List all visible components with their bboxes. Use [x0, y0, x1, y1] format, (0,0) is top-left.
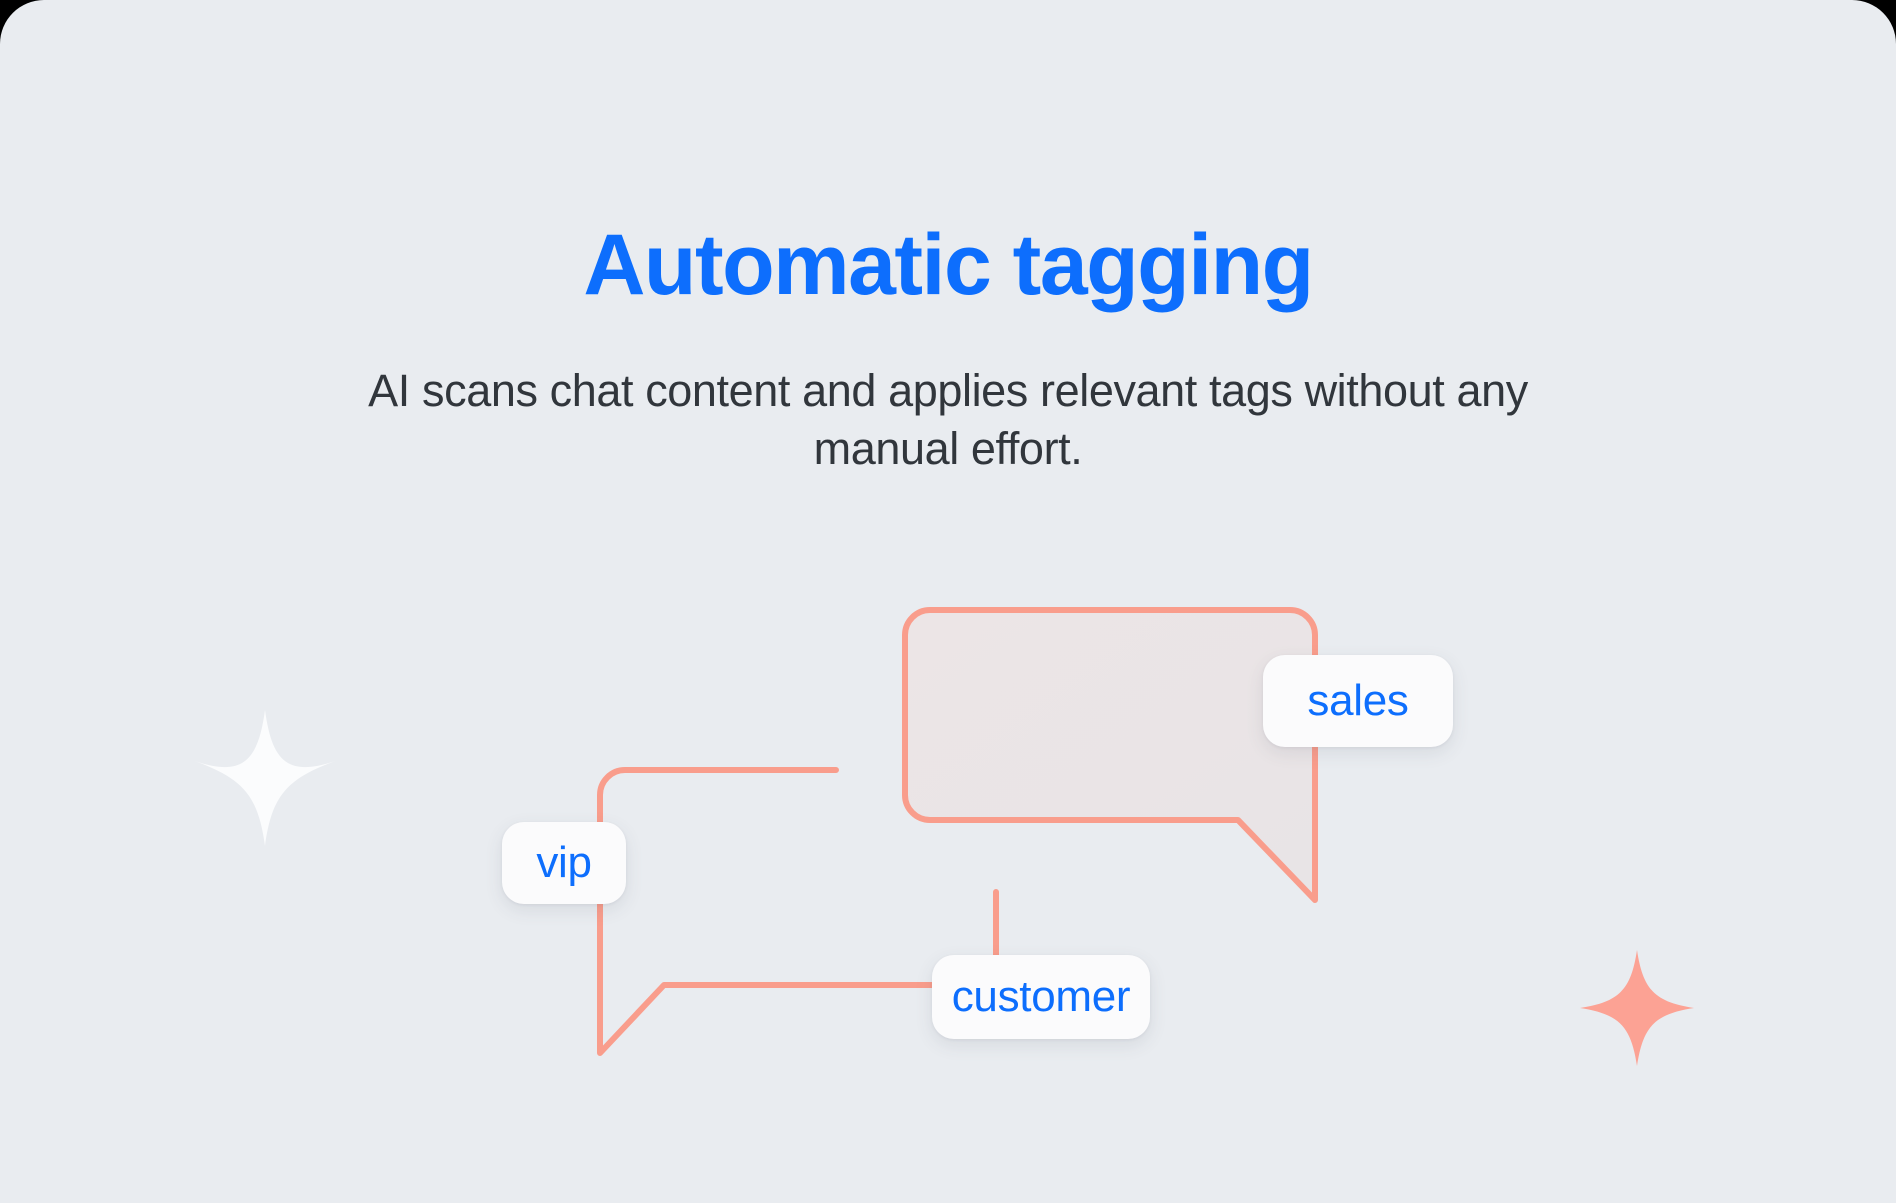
- tag-pill-customer[interactable]: customer: [932, 955, 1150, 1039]
- filled-speech-bubble: [905, 610, 1315, 900]
- page-subtitle: AI scans chat content and applies releva…: [333, 308, 1563, 477]
- header-block: Automatic tagging AI scans chat content …: [0, 0, 1896, 477]
- feature-card: vip sales customer Automatic tagging AI …: [0, 0, 1896, 1203]
- page-title: Automatic tagging: [0, 0, 1896, 308]
- tag-label-sales: sales: [1307, 676, 1408, 726]
- tag-pill-vip[interactable]: vip: [502, 822, 626, 904]
- sparkle-coral-icon: [1580, 950, 1694, 1066]
- tag-label-vip: vip: [536, 838, 591, 888]
- tag-pill-sales[interactable]: sales: [1263, 655, 1453, 747]
- outline-speech-bubble: [600, 770, 944, 1053]
- tag-label-customer: customer: [952, 972, 1131, 1022]
- sparkle-white-icon: [192, 710, 338, 846]
